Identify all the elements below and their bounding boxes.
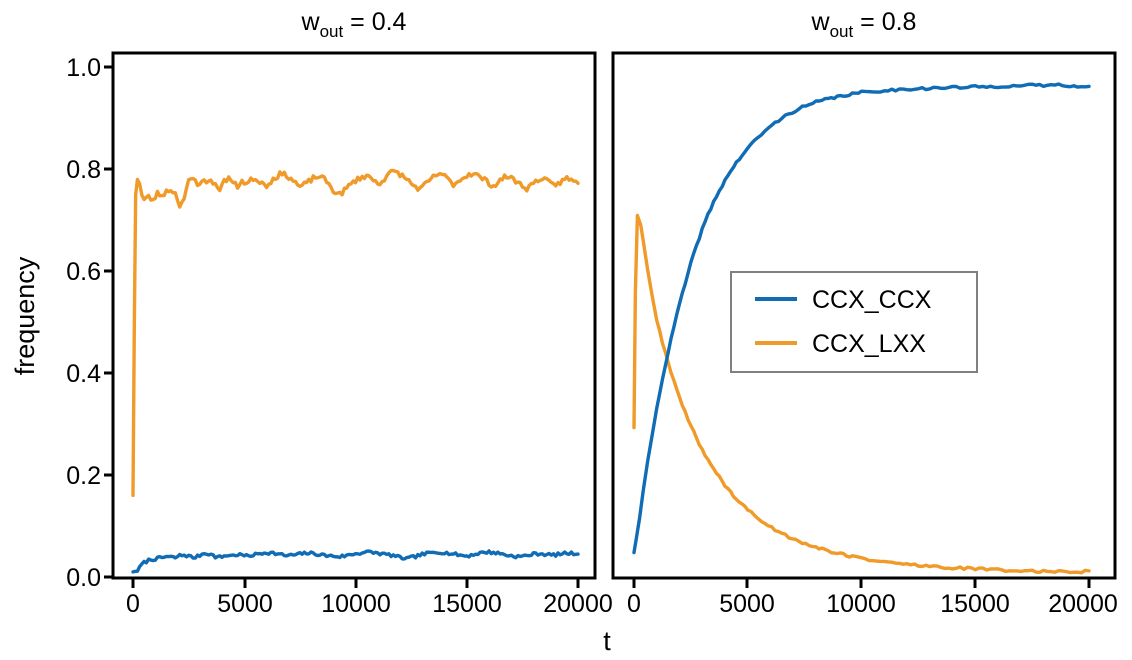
panel-1-title: wout = 0.4 xyxy=(301,8,407,41)
panel-1-title-rest: = 0.4 xyxy=(343,8,406,36)
legend: CCX_CCX CCX_LXX xyxy=(731,272,977,372)
legend-label-ccx-lxx: CCX_LXX xyxy=(812,330,926,358)
y-tick-label-0.8: 0.8 xyxy=(66,156,101,184)
figure-container: wout = 0.4 wout = 0.8 1.0 0.8 0.6 0.4 0.… xyxy=(0,0,1132,660)
x-tick-label-p1-5000: 5000 xyxy=(217,590,273,618)
y-tick-label-1.0: 1.0 xyxy=(66,54,101,82)
x-tick-label-p2-0: 0 xyxy=(627,590,641,618)
plot-svg: wout = 0.4 wout = 0.8 1.0 0.8 0.6 0.4 0.… xyxy=(0,0,1132,660)
panel-2-title-base: w xyxy=(811,8,831,36)
y-axis-title: frequency xyxy=(10,256,40,375)
x-tick-label-p1-15000: 15000 xyxy=(432,590,502,618)
y-tick-label-0.0: 0.0 xyxy=(66,564,101,592)
y-tick-label-0.6: 0.6 xyxy=(66,258,101,286)
y-axis: 1.0 0.8 0.6 0.4 0.2 0.0 xyxy=(66,54,113,592)
panel-2-title-subscript: out xyxy=(830,22,854,41)
legend-label-ccx-ccx: CCX_CCX xyxy=(812,286,932,314)
panel-1-title-subscript: out xyxy=(320,22,344,41)
x-tick-label-p1-20000: 20000 xyxy=(543,590,613,618)
x-tick-label-p2-20000: 20000 xyxy=(1048,590,1118,618)
panel-2-title-group: wout = 0.8 xyxy=(811,8,917,41)
y-tick-label-0.2: 0.2 xyxy=(66,462,101,490)
panel-1-frame xyxy=(113,53,595,578)
x-tick-label-p2-5000: 5000 xyxy=(719,590,775,618)
x-axis-panel-1: 0 5000 10000 15000 20000 xyxy=(126,578,613,618)
panel-2-title-rest: = 0.8 xyxy=(853,8,916,36)
panel-1-title-base: w xyxy=(301,8,321,36)
x-tick-label-p2-10000: 10000 xyxy=(826,590,896,618)
x-tick-label-p1-10000: 10000 xyxy=(321,590,391,618)
y-tick-label-0.4: 0.4 xyxy=(66,360,101,388)
x-axis-title: t xyxy=(603,626,611,656)
x-tick-label-p1-0: 0 xyxy=(126,590,140,618)
x-axis-panel-2: 0 5000 10000 15000 20000 xyxy=(627,578,1118,618)
panel-1-title-group: wout = 0.4 xyxy=(301,8,407,41)
panel-2-title: wout = 0.8 xyxy=(811,8,917,41)
x-tick-label-p2-15000: 15000 xyxy=(940,590,1010,618)
